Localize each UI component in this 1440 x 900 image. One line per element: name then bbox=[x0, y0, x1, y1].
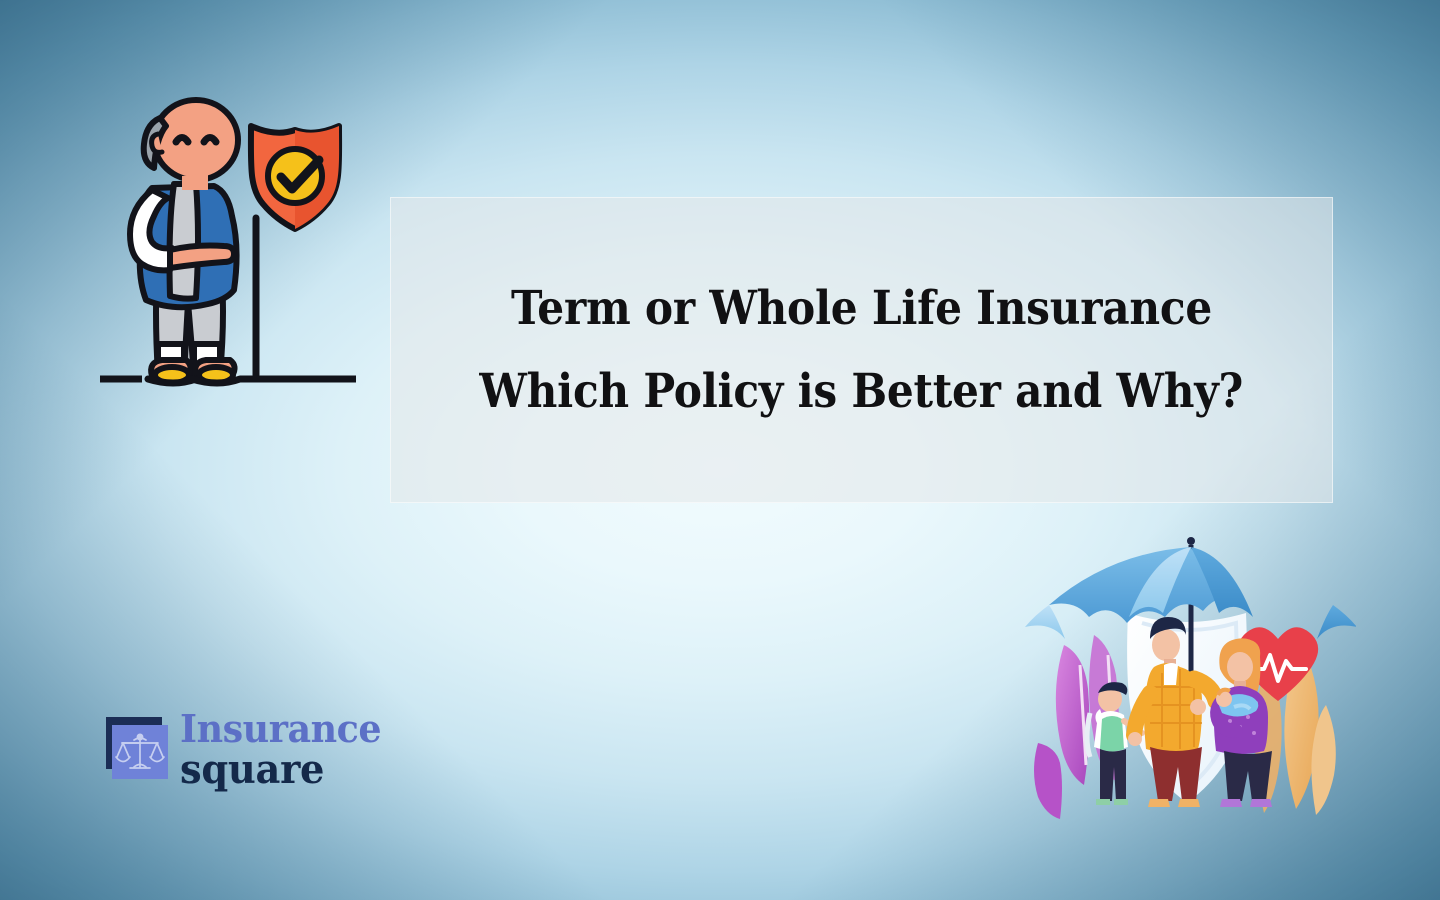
shield-check-icon bbox=[251, 126, 339, 229]
logo-wordmark: Insurance square bbox=[180, 710, 390, 790]
insurance-square-logo[interactable]: Insurance square bbox=[104, 712, 434, 802]
logo-word-insurance: Insurance bbox=[180, 710, 381, 748]
elderly-man-with-cane-and-shield-illustration bbox=[98, 92, 360, 392]
insurance-banner: Term or Whole Life Insurance Which Polic… bbox=[0, 0, 1440, 900]
family-under-umbrella-with-shield-illustration bbox=[1022, 527, 1356, 821]
page-title-line-1: Term or Whole Life Insurance bbox=[511, 285, 1212, 332]
logo-word-square: square bbox=[180, 750, 381, 790]
title-panel: Term or Whole Life Insurance Which Polic… bbox=[390, 197, 1333, 503]
page-title-line-2: Which Policy is Better and Why? bbox=[480, 368, 1244, 415]
scales-of-justice-icon bbox=[104, 717, 170, 783]
